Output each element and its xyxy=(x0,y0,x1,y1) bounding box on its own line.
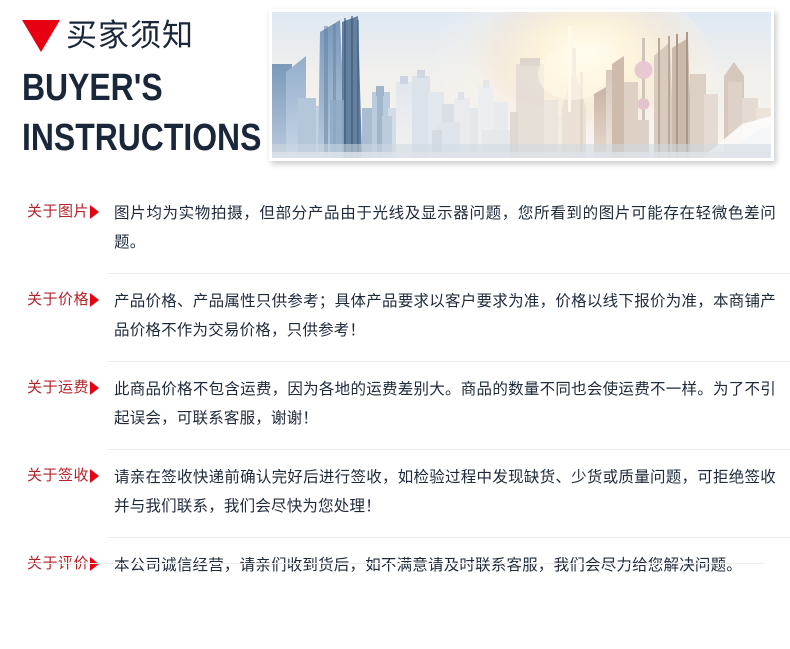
title-block: 买家须知 BUYER'S INSTRUCTIONS xyxy=(22,12,272,158)
triangle-right-icon xyxy=(90,205,99,219)
row-label: 关于图片 xyxy=(27,204,89,219)
row-text: 请亲在签收快递前确认完好后进行签收，如检验过程中发现缺货、少货或质量问题，可拒绝… xyxy=(108,450,790,537)
row-label-cell: 关于签收 xyxy=(0,450,108,483)
row-text: 本公司诚信经营，请亲们收到货后，如不满意请及时联系客服，我们会尽力给您解决问题。 xyxy=(108,538,790,596)
hero-cityscape-image xyxy=(269,9,774,161)
row-label: 关于签收 xyxy=(27,468,89,483)
skyline-illustration xyxy=(272,12,771,158)
triangle-right-icon xyxy=(90,381,99,395)
triangle-right-icon xyxy=(90,469,99,483)
hero-image-inner xyxy=(272,12,771,158)
chinese-title-row: 买家须知 xyxy=(22,12,272,58)
triangle-right-icon xyxy=(90,557,99,571)
instruction-row: 关于图片 图片均为实物拍摄，但部分产品由于光线及显示器问题，您所看到的图片可能存… xyxy=(0,186,790,273)
bottom-divider xyxy=(30,563,765,564)
row-text: 此商品价格不包含运费，因为各地的运费差别大。商品的数量不同也会使运费不一样。为了… xyxy=(108,362,790,449)
instruction-row: 关于运费 此商品价格不包含运费，因为各地的运费差别大。商品的数量不同也会使运费不… xyxy=(0,361,790,449)
instruction-row: 关于签收 请亲在签收快递前确认完好后进行签收，如检验过程中发现缺货、少货或质量问… xyxy=(0,449,790,537)
page-title: 买家须知 xyxy=(66,20,194,51)
row-label: 关于价格 xyxy=(27,292,89,307)
page-header: 买家须知 BUYER'S INSTRUCTIONS xyxy=(0,0,790,182)
english-title-line-1: BUYER'S xyxy=(22,68,232,108)
english-title-line-2: INSTRUCTIONS xyxy=(22,118,232,158)
row-label-cell: 关于运费 xyxy=(0,362,108,395)
instruction-row: 关于价格 产品价格、产品属性只供参考；具体产品要求以客户要求为准，价格以线下报价… xyxy=(0,273,790,361)
row-label-cell: 关于图片 xyxy=(0,186,108,219)
row-label: 关于运费 xyxy=(27,380,89,395)
instructions-list: 关于图片 图片均为实物拍摄，但部分产品由于光线及显示器问题，您所看到的图片可能存… xyxy=(0,186,790,596)
row-text: 产品价格、产品属性只供参考；具体产品要求以客户要求为准，价格以线下报价为准，本商… xyxy=(108,274,790,361)
row-label-cell: 关于价格 xyxy=(0,274,108,307)
triangle-right-icon xyxy=(90,293,99,307)
row-label-cell: 关于评价 xyxy=(0,538,108,571)
row-text: 图片均为实物拍摄，但部分产品由于光线及显示器问题，您所看到的图片可能存在轻微色差… xyxy=(108,186,790,273)
triangle-down-icon xyxy=(22,20,60,52)
instruction-row: 关于评价 本公司诚信经营，请亲们收到货后，如不满意请及时联系客服，我们会尽力给您… xyxy=(0,537,790,596)
